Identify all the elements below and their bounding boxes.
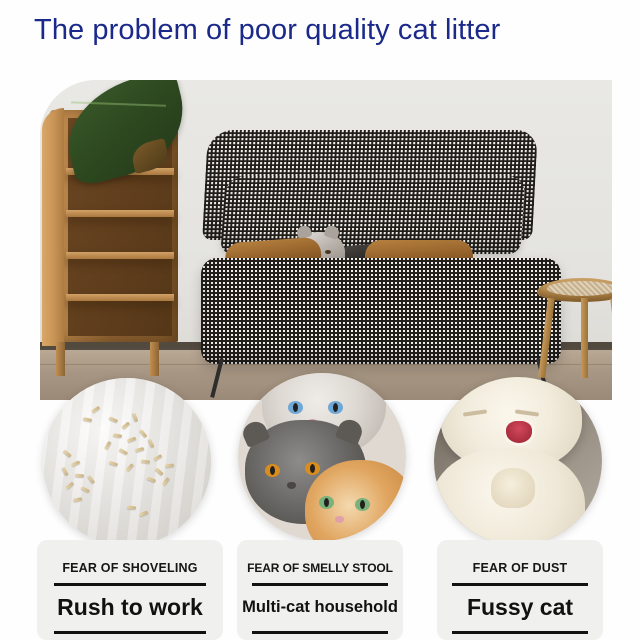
litter-mat — [43, 378, 211, 546]
cat-eye-green — [319, 496, 334, 509]
page-title: The problem of poor quality cat litter — [34, 13, 500, 47]
card-rule-top — [54, 583, 207, 586]
cat-ear — [363, 373, 393, 384]
cat-eye-blue — [328, 401, 343, 414]
card-title: Multi-cat household — [237, 598, 403, 617]
card-rule-top — [252, 583, 388, 586]
sofa-leg — [210, 358, 224, 398]
mat-shading — [43, 378, 211, 546]
card-title: Rush to work — [37, 594, 223, 621]
circle-image-sneezing-cat — [434, 377, 602, 545]
promo-page: The problem of poor quality cat litter — [0, 0, 640, 640]
card-fear-of-smelly-stool[interactable]: FEAR OF SMELLY STOOL Multi-cat household — [237, 540, 403, 640]
card-rule-top — [452, 583, 588, 586]
card-rule-bottom — [452, 631, 588, 634]
stool-leg — [538, 298, 555, 378]
cat-eye-orange — [265, 464, 280, 477]
houndstooth-sofa — [175, 130, 575, 400]
cat-eye-orange — [305, 462, 320, 475]
stool-leg — [581, 298, 588, 378]
card-kicker: FEAR OF SHOVELING — [37, 561, 223, 575]
card-rule-bottom — [54, 631, 207, 634]
litter-pellet — [127, 506, 136, 510]
cat-eye — [325, 250, 331, 254]
cat-nose — [335, 516, 344, 523]
cat-open-mouth — [506, 421, 532, 443]
shelf-board — [66, 252, 174, 259]
shelf-leg — [56, 342, 65, 376]
cat-eye-closed — [463, 409, 487, 416]
cat-paw — [491, 468, 535, 508]
stool-rattan-seat — [547, 281, 612, 296]
hero-image — [40, 80, 612, 400]
wooden-stool — [537, 278, 612, 383]
stool-leg — [610, 298, 612, 378]
cat-ear — [254, 373, 284, 384]
shelf-leg — [150, 342, 159, 376]
card-kicker: FEAR OF SMELLY STOOL — [237, 561, 403, 575]
card-title: Fussy cat — [437, 594, 603, 621]
shelf-board — [66, 294, 174, 301]
cat-eye-green — [355, 498, 370, 511]
card-kicker: FEAR OF DUST — [437, 561, 603, 575]
three-cats-photo — [238, 373, 406, 541]
cat-nose — [287, 482, 296, 489]
shelf-board — [66, 210, 174, 217]
cat-eye-blue — [288, 401, 303, 414]
card-fear-of-shoveling[interactable]: FEAR OF SHOVELING Rush to work — [37, 540, 223, 640]
shelf-front-post — [42, 108, 64, 346]
persian-cat-photo — [434, 377, 602, 545]
card-fear-of-dust[interactable]: FEAR OF DUST Fussy cat — [437, 540, 603, 640]
sofa-seat-front — [201, 326, 561, 364]
cat-eye-closed — [515, 409, 539, 416]
litter-pellet — [75, 474, 84, 478]
circle-image-three-cats — [238, 373, 406, 541]
card-rule-bottom — [252, 631, 388, 634]
circle-image-litter — [43, 378, 211, 546]
